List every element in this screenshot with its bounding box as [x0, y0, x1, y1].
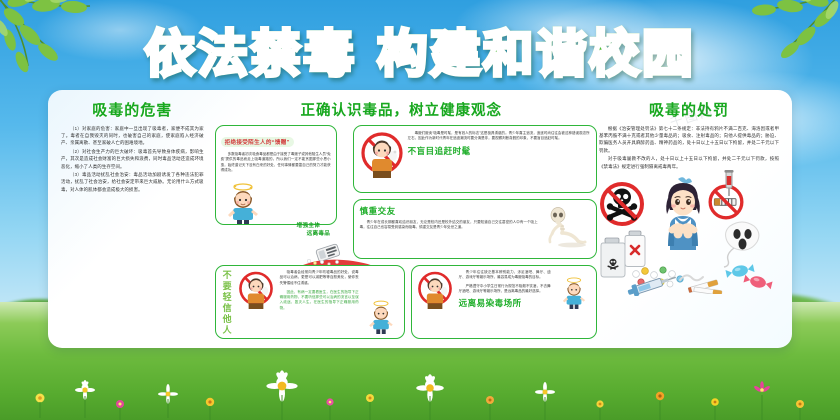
no-smoking-girl-icon-3 — [417, 270, 453, 312]
smoke-ghost-icon — [716, 216, 770, 268]
panel-no-fashion-chase[interactable]: 毒贩们贩卖“吸毒是时髦，是有钱人的标志”这是极具诱惑的。青少年喜主追流，追逐时尚… — [353, 125, 597, 193]
girl-refusing-icon — [648, 174, 718, 260]
panel-refuse-gift-text: 多数吸毒者初次吸食毒品都是由于接受了毒贩子或其他陌生人员“免费”提供的毒品而走上… — [221, 152, 331, 173]
panel-refuse-gift[interactable]: 拒绝接受陌生人的“馈赠” 多数吸毒者初次吸食毒品都是由于接受了毒贩子或其他陌生人… — [215, 125, 337, 225]
right-column: 吸毒的处罚 根据《治安管理处罚法》第七十二条规定：非法持有鸦片不满二百克、海洛因… — [596, 97, 782, 341]
panel-careful-friends[interactable]: 慎重交友 青少年在成长期都喜欢结识朋友，无论是校内还是校外结交的朋友，只要知道自… — [353, 199, 597, 259]
candy-icon — [724, 262, 778, 292]
right-body: 根据《治安管理处罚法》第七十二条规定：非法持有鸦片不满二百克、海洛因或者甲基苯丙… — [596, 125, 782, 170]
content-card: 千图网 吸毒的危害 （1）对家庭的危害：家庭中一旦出现了吸毒者，家便不成其为家了… — [48, 90, 792, 348]
right-paragraph-1: 根据《治安管理处罚法》第七十二条规定：非法持有鸦片不满二百克、海洛因或者甲基苯丙… — [599, 125, 779, 154]
panel-careful-friends-title: 慎重交友 — [360, 205, 538, 217]
left-body: （1）对家庭的危害：家庭中一旦出现了吸毒者，家便不成其为家了。毒者在自我毁灭的同… — [58, 125, 207, 193]
right-heading: 吸毒的处罚 — [596, 99, 782, 120]
left-paragraph-1: （1）对家庭的危害：家庭中一旦出现了吸毒者，家便不成其为家了。毒者在自我毁灭的同… — [61, 125, 204, 147]
panel-avoid-risky-places-text: 青少年往往缺乏基本辨别能力，涉足酒吧、舞厅、迪厅、游戏厅等娱乐场所，最容易成为毒… — [459, 270, 551, 281]
panel-dont-trust-strangers[interactable]: 不要轻信他人 — [215, 265, 405, 339]
boy-dizzy-icon — [220, 180, 266, 225]
poster-canvas: 依法禁毒 构建和谐校园 千图网 吸毒的危害 （1）对家庭的危害：家庭中一旦出现了… — [0, 0, 840, 420]
right-paragraph-2: 对于吸毒屡教不改的人，处十日以上十五日以下拘留，并处二千元以下罚款，按照《禁毒法… — [599, 155, 779, 169]
panel-no-fashion-chase-title: 不盲目追赶时髦 — [408, 145, 590, 157]
panel-avoid-risky-places-title: 远离易染毒场所 — [459, 297, 551, 309]
panel-dont-trust-strangers-title: 不要轻信他人 — [221, 270, 234, 336]
panel-careful-friends-text: 青少年在成长期都喜欢结识朋友，无论是校内还是校外结交的朋友，只要知道自己交往甚密… — [360, 220, 538, 231]
poster-title: 依法禁毒 构建和谐校园 — [145, 14, 695, 86]
skeleton-icon — [542, 205, 590, 249]
left-heading: 吸毒的危害 — [58, 99, 207, 120]
boy-dizzy-icon-3 — [557, 272, 591, 312]
panel-refuse-gift-title: 拒绝接受陌生人的“馈赠” — [221, 137, 294, 147]
no-smoking-girl-icon-2 — [238, 270, 274, 312]
left-paragraph-3: （3）毒品活动扰乱社会治安：毒品活动加剧诱发了各种违法犯罪活动，扰乱了社会治安，… — [61, 171, 204, 193]
middle-panel-grid: 拒绝接受陌生人的“馈赠” 多数吸毒者初次吸食毒品都是由于接受了毒贩子或其他陌生人… — [213, 125, 590, 339]
syringe-icon — [626, 274, 678, 296]
middle-column: 正确认识毒品，树立健康观念 拒绝接受陌生人的“馈赠” 多数吸毒者初次吸食毒品都是… — [213, 97, 590, 341]
poster-title-wrap: 依法禁毒 构建和谐校园 — [0, 14, 840, 86]
middle-heading: 正确认识毒品，树立健康观念 — [213, 99, 590, 120]
panel-no-fashion-chase-text: 毒贩们贩卖“吸毒是时髦，是有钱人的标志”这是极具诱惑的。青少年喜主追流，追逐时尚… — [408, 131, 590, 142]
panel-dont-trust-strangers-text2: 因此，有病一定要看医生，在医生的指导下正确服用药物，不要听信那些可以治病的流言以… — [280, 290, 359, 311]
boy-dizzy-icon-2 — [363, 296, 399, 336]
panel-avoid-risky-places-text2: 严格遵守中小学生日常行为规范不吸烟不饮酒，不去舞厅酒吧、游戏厅等娱乐场所，是远离… — [459, 284, 551, 295]
no-smoking-girl-icon — [360, 131, 404, 181]
panel-dont-trust-strangers-text: 吸毒者会经常向青少年吹嘘毒品的好处，说毒品可以治病，更是可以减肥等等百般美化，使… — [280, 270, 359, 286]
syringe-small-icon — [722, 170, 736, 198]
no-skull-icon — [598, 180, 646, 228]
poison-bottle-icon — [622, 230, 648, 270]
panel-avoid-risky-places[interactable]: 青少年往往缺乏基本辨别能力，涉足酒吧、舞厅、迪厅、游戏厅等娱乐场所，最容易成为毒… — [411, 265, 597, 339]
right-illustration — [596, 174, 782, 294]
left-column: 吸毒的危害 （1）对家庭的危害：家庭中一旦出现了吸毒者，家便不成其为家了。毒者在… — [58, 97, 207, 341]
left-paragraph-2: （2）对社会生产力的巨大破坏：吸毒首先导致身体疾病，影响生产，其次是造成社会财富… — [61, 148, 204, 170]
